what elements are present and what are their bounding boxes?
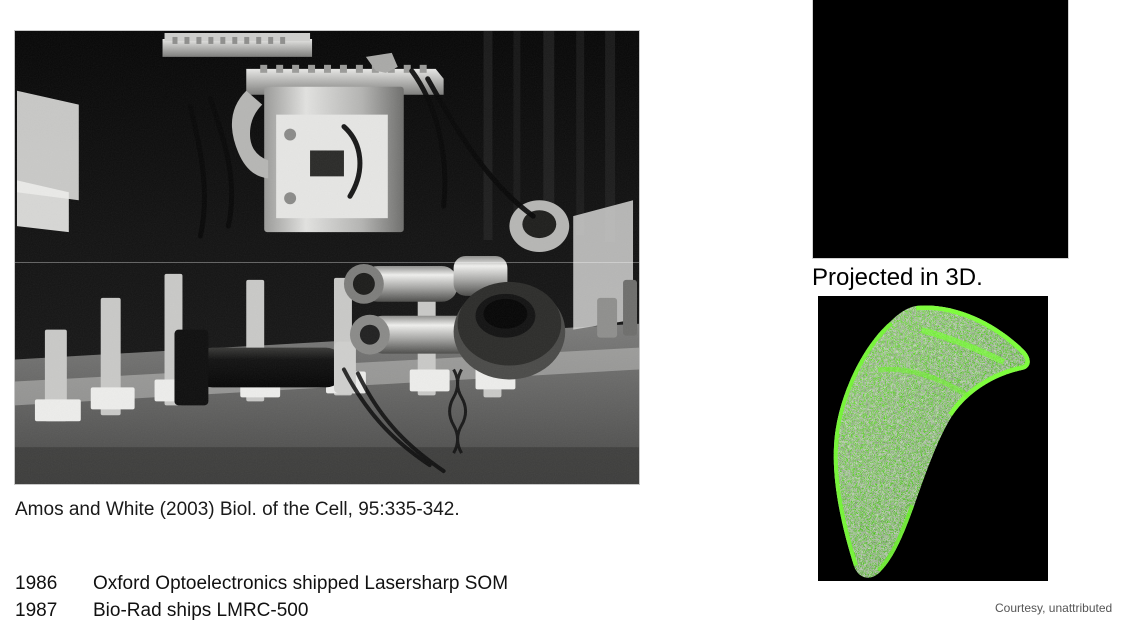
black-confocal-frame xyxy=(812,0,1069,259)
timeline-row: 1986 Oxford Optoelectronics shipped Lase… xyxy=(15,570,655,597)
timeline-event: Bio-Rad ships LMRC-500 xyxy=(93,597,655,624)
photo-citation: Amos and White (2003) Biol. of the Cell,… xyxy=(15,499,460,521)
slide-canvas: Confocal Laser Scanning Microscopy xyxy=(0,0,1136,618)
green-fluorescence-3d-projection xyxy=(818,296,1048,581)
timeline-year: 1986 xyxy=(15,570,93,597)
image-credit: Courtesy, unattributed xyxy=(995,601,1112,615)
projection-label: Projected in 3D. xyxy=(812,264,983,292)
timeline-event: Oxford Optoelectronics shipped Lasershar… xyxy=(93,570,655,597)
timeline-row: 1987 Bio-Rad ships LMRC-500 xyxy=(15,597,655,624)
history-timeline: 1986 Oxford Optoelectronics shipped Lase… xyxy=(15,570,655,624)
lasersharp-prototype-photograph xyxy=(14,30,640,485)
timeline-year: 1987 xyxy=(15,597,93,624)
